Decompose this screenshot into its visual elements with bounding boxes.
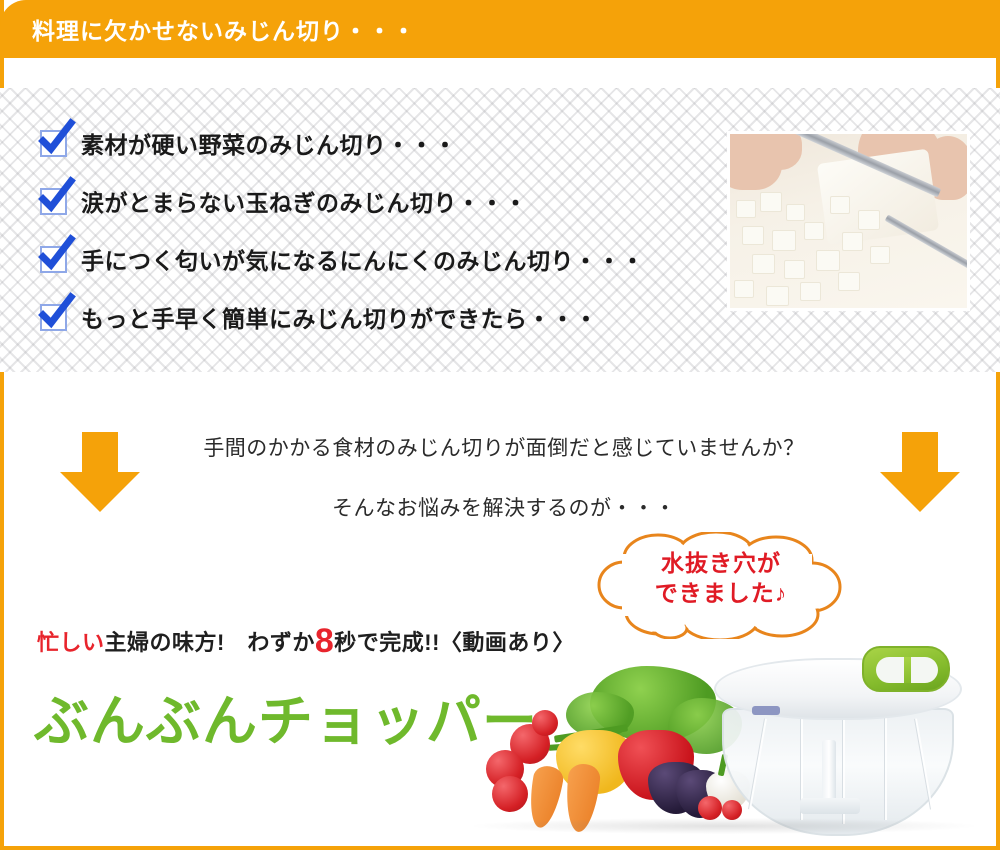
chopper-shaft (822, 740, 836, 806)
tagline-black-part-1: 主婦の味方! わずか (105, 630, 315, 655)
checklist-item: 涙がとまらない玉ねぎのみじん切り・・・ (40, 172, 740, 230)
tagline-black-part-2: 秒で完成!!〈動画あり〉 (334, 630, 575, 655)
checklist-item-label: 素材が硬い野菜のみじん切り・・・ (81, 126, 457, 160)
checkbox-checked-icon (40, 304, 67, 331)
chopper-pull-handle (862, 646, 950, 692)
product-shadow (474, 818, 974, 834)
checkbox-checked-icon (40, 130, 67, 157)
tagline-big-number: 8 (315, 622, 334, 660)
problem-checklist: 素材が硬い野菜のみじん切り・・・ 涙がとまらない玉ねぎのみじん切り・・・ 手につ… (40, 114, 740, 346)
checkbox-checked-icon (40, 246, 67, 273)
checkbox-checked-icon (40, 188, 67, 215)
middle-copy-line-1: 手間のかかる食材のみじん切りが面倒だと感じていませんか？ (4, 432, 1000, 462)
tagline: 忙しい主婦の味方! わずか8秒で完成!!〈動画あり〉 (37, 622, 575, 661)
tagline-red-part: 忙しい (37, 630, 105, 655)
header-banner: 料理に欠かせないみじん切り・・・ (0, 0, 1000, 58)
chopper-latch (752, 706, 780, 715)
chopper-bowl (722, 708, 954, 836)
chopper-blade-base (800, 798, 860, 814)
speech-bubble-line-1: 水抜き穴が (596, 548, 846, 578)
checklist-item-label: 手につく匂いが気になるにんにくのみじん切り・・・ (81, 242, 645, 276)
product-name: ぶんぶんチョッパー (34, 676, 538, 756)
checklist-item: 素材が硬い野菜のみじん切り・・・ (40, 114, 740, 172)
middle-copy: 手間のかかる食材のみじん切りが面倒だと感じていませんか？ そんなお悩みを解決する… (4, 432, 1000, 522)
checklist-item: もっと手早く簡単にみじん切りができたら・・・ (40, 288, 740, 346)
chopper-handle-bar (904, 657, 911, 683)
speech-bubble: 水抜き穴が できました♪ (596, 532, 846, 639)
checklist-item-label: 涙がとまらない玉ねぎのみじん切り・・・ (81, 184, 528, 218)
middle-copy-line-2: そんなお悩みを解決するのが・・・ (4, 492, 1000, 522)
advertisement-page: 料理に欠かせないみじん切り・・・ 素材が硬い野菜のみじん切り・・・ 涙がとまら (0, 0, 1000, 850)
speech-bubble-text: 水抜き穴が できました♪ (596, 548, 846, 609)
onion-chopping-photo (727, 131, 970, 311)
speech-bubble-line-2: できました♪ (596, 578, 846, 608)
bunbun-chopper-product-photo (704, 630, 974, 845)
page-title: 料理に欠かせないみじん切り・・・ (32, 12, 416, 46)
checklist-item: 手につく匂いが気になるにんにくのみじん切り・・・ (40, 230, 740, 288)
checklist-item-label: もっと手早く簡単にみじん切りができたら・・・ (81, 300, 598, 334)
